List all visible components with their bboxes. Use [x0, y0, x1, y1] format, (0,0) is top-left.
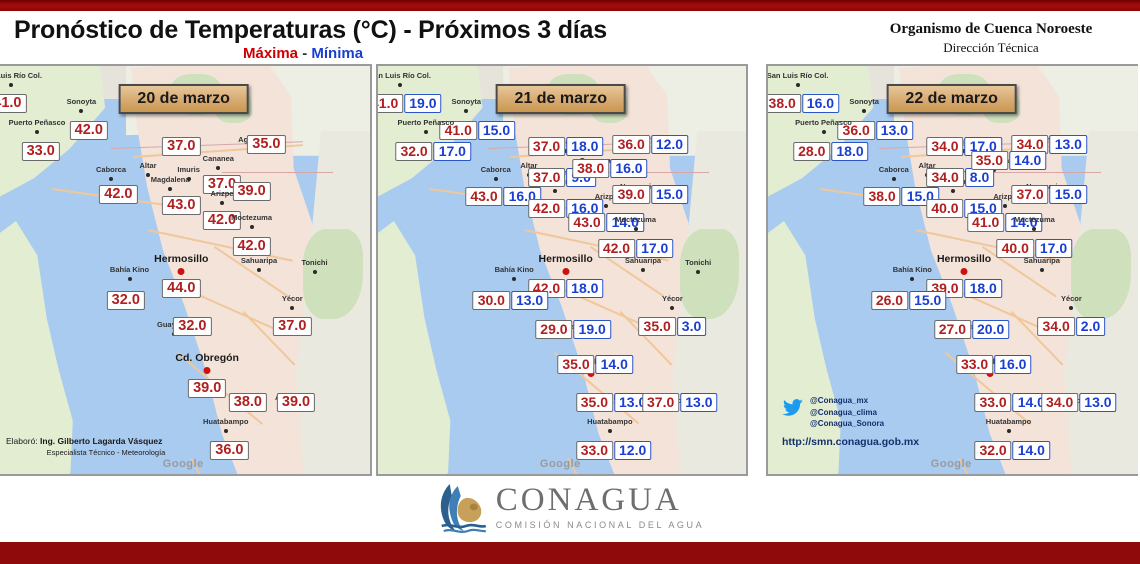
map-canvas[interactable]: Google22 de marzoSan Luis Río Col.38.016…: [768, 66, 1138, 474]
city-dot-icon: [204, 367, 211, 374]
min-temp-chip: 15.0: [909, 291, 946, 310]
city-dot-icon: [257, 268, 261, 272]
city-label: Hermosillo: [937, 253, 991, 265]
min-temp-chip: 15.0: [478, 121, 515, 140]
map-terrain-foresta: [680, 229, 739, 319]
temperature-readout: 37.018.0: [528, 137, 604, 156]
temperature-readout: 32.017.0: [395, 142, 471, 161]
header: Pronóstico de Temperaturas (°C) - Próxim…: [0, 11, 1140, 65]
city-label: Arizpe: [211, 189, 234, 198]
max-temp-chip: 43.0: [568, 213, 605, 232]
map-panel-1: Google20 de marzoSan Luis Río Col.41.0So…: [0, 64, 372, 476]
page-title: Pronóstico de Temperaturas (°C) - Próxim…: [14, 16, 607, 45]
min-temp-chip: 13.0: [1050, 135, 1087, 154]
temperature-readout: 41.0: [0, 94, 27, 113]
min-temp-chip: 16.0: [994, 355, 1031, 374]
max-temp-chip: 26.0: [871, 291, 908, 310]
max-temp-chip: 32.0: [107, 291, 145, 310]
city-label: Tonichi: [301, 258, 327, 267]
social-handles: @Conagua_mx@Conagua_clima@Conagua_Sonora: [810, 395, 962, 430]
temperature-readout: 42.0: [70, 121, 108, 140]
map-watermark: Google: [931, 458, 972, 470]
max-temp-chip: 40.0: [926, 199, 963, 218]
max-temp-chip: 32.0: [173, 317, 211, 336]
temperature-readout: 26.015.0: [871, 291, 947, 310]
max-temp-chip: 34.0: [926, 137, 963, 156]
min-temp-chip: 19.0: [574, 320, 611, 339]
max-temp-chip: 37.0: [1011, 185, 1048, 204]
temperature-readout: 42.0: [99, 185, 137, 204]
temperature-readout: 43.0: [162, 196, 200, 215]
city-dot-icon: [128, 277, 132, 281]
date-banner: 21 de marzo: [496, 84, 626, 114]
city-label: Yécor: [1061, 294, 1082, 303]
city-label: Yécor: [282, 294, 303, 303]
city-dot-icon: [146, 173, 150, 177]
min-temp-chip: 15.0: [1050, 185, 1087, 204]
date-banner: 22 de marzo: [886, 84, 1016, 114]
max-temp-chip: 34.0: [927, 168, 964, 187]
city-dot-icon: [216, 166, 220, 170]
organization-block: Organismo de Cuenca Noroeste Dirección T…: [856, 21, 1126, 56]
max-temp-chip: 37.0: [528, 168, 565, 187]
temperature-readout: 36.012.0: [613, 135, 689, 154]
min-temp-chip: 16.0: [610, 159, 647, 178]
credit-line-2: Especialista Técnico - Meteorología: [6, 448, 206, 458]
max-temp-chip: 33.0: [576, 441, 613, 460]
city-dot-icon: [512, 277, 516, 281]
social-handle-1[interactable]: @Conagua_clima: [810, 407, 962, 419]
max-temp-chip: 38.0: [572, 159, 609, 178]
max-temp-chip: 32.0: [974, 441, 1011, 460]
city-label: Cd. Obregón: [175, 352, 239, 364]
max-temp-chip: 29.0: [535, 320, 572, 339]
city-dot-icon: [494, 177, 498, 181]
max-temp-chip: 35.0: [576, 393, 613, 412]
city-label: Imuris: [177, 165, 200, 174]
temperature-readout: 33.014.0: [974, 393, 1050, 412]
city-label: Sahuaripa: [625, 256, 661, 265]
city-dot-icon: [1040, 268, 1044, 272]
top-brand-bar: [0, 0, 1140, 11]
city-label: Huatabampo: [986, 417, 1031, 426]
max-temp-chip: 41.0: [967, 213, 1004, 232]
temperature-readout: 39.0: [277, 393, 315, 412]
temperature-readout: 38.016.0: [572, 159, 648, 178]
city-label: Puerto Peñasco: [795, 118, 852, 127]
city-dot-icon: [109, 177, 113, 181]
temperature-readout: 29.019.0: [535, 320, 611, 339]
min-temp-chip: 14.0: [1013, 441, 1050, 460]
min-temp-chip: 3.0: [677, 317, 706, 336]
max-temp-chip: 36.0: [210, 441, 248, 460]
map-panels: Google20 de marzoSan Luis Río Col.41.0So…: [0, 64, 1140, 476]
min-temp-chip: 13.0: [876, 121, 913, 140]
city-label: Sonoyta: [67, 97, 97, 106]
city-label: Cananea: [203, 154, 234, 163]
map-watermark: Google: [540, 458, 581, 470]
temperature-readout: 37.0: [162, 137, 200, 156]
city-label: Sonoyta: [849, 97, 879, 106]
city-label: Moctezuma: [1014, 215, 1055, 224]
organization-subtitle: Dirección Técnica: [856, 40, 1126, 56]
city-dot-icon: [35, 130, 39, 134]
map-terrain-foresta: [303, 229, 362, 319]
temperature-readout: 35.014.0: [557, 355, 633, 374]
max-temp-chip: 41.0: [376, 94, 403, 113]
map-canvas[interactable]: Google21 de marzoSan Luis Río Col.41.019…: [378, 66, 746, 474]
max-temp-chip: 39.0: [232, 182, 270, 201]
temperature-readout: 44.0: [162, 279, 200, 298]
legend-separator: -: [302, 45, 307, 62]
city-label: Sonoyta: [452, 97, 482, 106]
map-border-line: [990, 172, 1101, 173]
city-dot-icon: [670, 306, 674, 310]
legend-max-label: Máxima: [243, 45, 298, 62]
bottom-brand-bar: [0, 542, 1140, 564]
smn-url-link[interactable]: http://smn.conagua.gob.mx: [782, 436, 962, 448]
author-credit: Elaboró: Ing. Gilberto Lagarda VásquezEs…: [6, 436, 206, 458]
temperature-readout: 37.0: [273, 317, 311, 336]
temperature-readout: 39.0: [232, 182, 270, 201]
city-dot-icon: [9, 83, 13, 87]
max-temp-chip: 41.0: [0, 94, 27, 113]
city-dot-icon: [398, 83, 402, 87]
temperature-readout: 39.015.0: [613, 185, 689, 204]
social-handle-0[interactable]: @Conagua_mx: [810, 395, 962, 407]
temperature-readout: 42.0: [232, 237, 270, 256]
max-temp-chip: 43.0: [465, 187, 502, 206]
max-temp-chip: 35.0: [639, 317, 676, 336]
map-border-line: [222, 172, 333, 173]
city-dot-icon: [220, 201, 224, 205]
city-dot-icon: [250, 225, 254, 229]
max-temp-chip: 28.0: [793, 142, 830, 161]
city-label: Hermosillo: [539, 253, 593, 265]
max-temp-chip: 43.0: [162, 196, 200, 215]
city-label: Bahía Kino: [495, 265, 534, 274]
social-block: @Conagua_mx@Conagua_clima@Conagua_Sonora…: [782, 395, 962, 448]
city-label: Tonichi: [685, 258, 711, 267]
city-dot-icon: [910, 277, 914, 281]
map-canvas[interactable]: Google20 de marzoSan Luis Río Col.41.0So…: [0, 66, 370, 474]
footer: CONAGUA COMISIÓN NACIONAL DEL AGUA: [0, 476, 1140, 542]
logo-tagline: COMISIÓN NACIONAL DEL AGUA: [496, 520, 704, 530]
temperature-readout: 28.018.0: [793, 142, 869, 161]
min-temp-chip: 18.0: [965, 279, 1002, 298]
max-temp-chip: 42.0: [99, 185, 137, 204]
max-temp-chip: 42.0: [232, 237, 270, 256]
max-temp-chip: 35.0: [247, 135, 285, 154]
organization-title: Organismo de Cuenca Noroeste: [856, 21, 1126, 38]
max-temp-chip: 27.0: [934, 320, 971, 339]
min-temp-chip: 13.0: [511, 291, 548, 310]
social-handle-2[interactable]: @Conagua_Sonora: [810, 418, 962, 430]
temperature-readout: 38.016.0: [766, 94, 839, 113]
max-temp-chip: 37.0: [528, 137, 565, 156]
city-dot-icon: [1032, 227, 1036, 231]
city-dot-icon: [1069, 306, 1073, 310]
min-temp-chip: 19.0: [404, 94, 441, 113]
city-label: San Luis Río Col.: [376, 71, 431, 80]
temperature-readout: 34.02.0: [1038, 317, 1106, 336]
min-temp-chip: 13.0: [1079, 393, 1116, 412]
min-temp-chip: 12.0: [614, 441, 651, 460]
city-dot-icon: [1003, 204, 1007, 208]
max-temp-chip: 39.0: [613, 185, 650, 204]
city-label: Yécor: [662, 294, 683, 303]
map-terrain-baja: [376, 221, 481, 476]
map-terrain-foresta: [1071, 229, 1130, 319]
max-temp-chip: 35.0: [971, 151, 1008, 170]
city-dot-icon: [178, 268, 185, 275]
city-dot-icon: [608, 429, 612, 433]
temperature-readout: 32.014.0: [974, 441, 1050, 460]
city-label: Huatabampo: [203, 417, 248, 426]
city-dot-icon: [562, 268, 569, 275]
max-temp-chip: 30.0: [473, 291, 510, 310]
map-panel-2: Google21 de marzoSan Luis Río Col.41.019…: [376, 64, 748, 476]
conagua-emblem-icon: [436, 480, 488, 534]
city-dot-icon: [862, 109, 866, 113]
city-label: Altar: [139, 161, 156, 170]
min-temp-chip: 17.0: [434, 142, 471, 161]
min-temp-chip: 14.0: [596, 355, 633, 374]
city-label: Moctezuma: [615, 215, 656, 224]
city-dot-icon: [892, 177, 896, 181]
city-label: Caborca: [96, 165, 126, 174]
temperature-readout: 32.0: [173, 317, 211, 336]
city-dot-icon: [464, 109, 468, 113]
max-temp-chip: 37.0: [273, 317, 311, 336]
city-label: Puerto Peñasco: [9, 118, 66, 127]
max-temp-chip: 42.0: [70, 121, 108, 140]
city-dot-icon: [634, 227, 638, 231]
temperature-readout: 33.0: [22, 142, 60, 161]
temperature-readout: 35.013.0: [576, 393, 652, 412]
city-dot-icon: [822, 130, 826, 134]
max-temp-chip: 33.0: [956, 355, 993, 374]
max-temp-chip: 34.0: [1041, 393, 1078, 412]
min-temp-chip: 18.0: [566, 137, 603, 156]
max-temp-chip: 35.0: [557, 355, 594, 374]
city-label: Caborca: [481, 165, 511, 174]
city-dot-icon: [796, 83, 800, 87]
max-temp-chip: 33.0: [974, 393, 1011, 412]
city-dot-icon: [553, 189, 557, 193]
max-temp-chip: 38.0: [863, 187, 900, 206]
city-dot-icon: [187, 177, 191, 181]
min-temp-chip: 18.0: [831, 142, 868, 161]
temperature-readout: 37.015.0: [1011, 185, 1087, 204]
city-dot-icon: [951, 189, 955, 193]
legend: Máxima - Mínima: [243, 45, 363, 62]
city-label: Hermosillo: [154, 253, 208, 265]
min-temp-chip: 16.0: [802, 94, 839, 113]
city-label: Caborca: [879, 165, 909, 174]
city-dot-icon: [424, 130, 428, 134]
max-temp-chip: 38.0: [766, 94, 801, 113]
city-label: San Luis Río Col.: [0, 71, 42, 80]
temperature-readout: 35.0: [247, 135, 285, 154]
temperature-readout: 36.0: [210, 441, 248, 460]
min-temp-chip: 14.0: [1009, 151, 1046, 170]
max-temp-chip: 39.0: [188, 379, 226, 398]
map-watermark: Google: [163, 458, 204, 470]
twitter-bird-icon[interactable]: [782, 399, 804, 417]
city-label: Magdalena: [151, 175, 190, 184]
date-banner: 20 de marzo: [118, 84, 248, 114]
min-temp-chip: 12.0: [651, 135, 688, 154]
temperature-readout: 33.012.0: [576, 441, 652, 460]
city-dot-icon: [696, 270, 700, 274]
logo-name: CONAGUA: [496, 484, 704, 517]
max-temp-chip: 44.0: [162, 279, 200, 298]
temperature-readout: 37.013.0: [642, 393, 718, 412]
city-dot-icon: [961, 268, 968, 275]
temperature-readout: 34.08.0: [927, 168, 995, 187]
temperature-readout: 27.020.0: [934, 320, 1010, 339]
temperature-readout: 32.0: [107, 291, 145, 310]
min-temp-chip: 2.0: [1076, 317, 1105, 336]
city-dot-icon: [1007, 429, 1011, 433]
city-dot-icon: [290, 306, 294, 310]
temperature-readout: 38.0: [229, 393, 267, 412]
city-label: Sahuaripa: [241, 256, 277, 265]
city-dot-icon: [168, 187, 172, 191]
city-label: Moctezuma: [231, 213, 272, 222]
max-temp-chip: 34.0: [1038, 317, 1075, 336]
conagua-wordmark: CONAGUA COMISIÓN NACIONAL DEL AGUA: [496, 484, 704, 530]
max-temp-chip: 37.0: [642, 393, 679, 412]
max-temp-chip: 38.0: [229, 393, 267, 412]
city-label: Bahía Kino: [110, 265, 149, 274]
city-label: Puerto Peñasco: [397, 118, 454, 127]
temperature-readout: 39.0: [188, 379, 226, 398]
temperature-readout: 33.016.0: [956, 355, 1032, 374]
city-dot-icon: [224, 429, 228, 433]
min-temp-chip: 20.0: [972, 320, 1009, 339]
min-temp-chip: 15.0: [651, 185, 688, 204]
city-dot-icon: [604, 204, 608, 208]
city-label: Huatabampo: [587, 417, 632, 426]
conagua-logo: CONAGUA COMISIÓN NACIONAL DEL AGUA: [436, 480, 704, 534]
max-temp-chip: 39.0: [277, 393, 315, 412]
temperature-readout: 35.014.0: [971, 151, 1047, 170]
max-temp-chip: 42.0: [528, 199, 565, 218]
city-dot-icon: [313, 270, 317, 274]
max-temp-chip: 36.0: [613, 135, 650, 154]
temperature-readout: 41.019.0: [376, 94, 442, 113]
city-dot-icon: [79, 109, 83, 113]
city-label: Sahuaripa: [1024, 256, 1060, 265]
legend-min-label: Mínima: [311, 45, 363, 62]
city-label: San Luis Río Col.: [767, 71, 829, 80]
forecast-infographic: Pronóstico de Temperaturas (°C) - Próxim…: [0, 0, 1140, 564]
max-temp-chip: 33.0: [22, 142, 60, 161]
credit-line-1: Elaboró: Ing. Gilberto Lagarda Vásquez: [6, 436, 206, 447]
city-label: Bahía Kino: [893, 265, 932, 274]
min-temp-chip: 18.0: [566, 279, 603, 298]
max-temp-chip: 37.0: [162, 137, 200, 156]
max-temp-chip: 32.0: [395, 142, 432, 161]
temperature-readout: 35.03.0: [639, 317, 707, 336]
city-dot-icon: [641, 268, 645, 272]
min-temp-chip: 13.0: [680, 393, 717, 412]
temperature-readout: 30.013.0: [473, 291, 549, 310]
min-temp-chip: 8.0: [965, 168, 994, 187]
temperature-readout: 34.013.0: [1041, 393, 1117, 412]
map-panel-3: Google22 de marzoSan Luis Río Col.38.016…: [766, 64, 1138, 476]
